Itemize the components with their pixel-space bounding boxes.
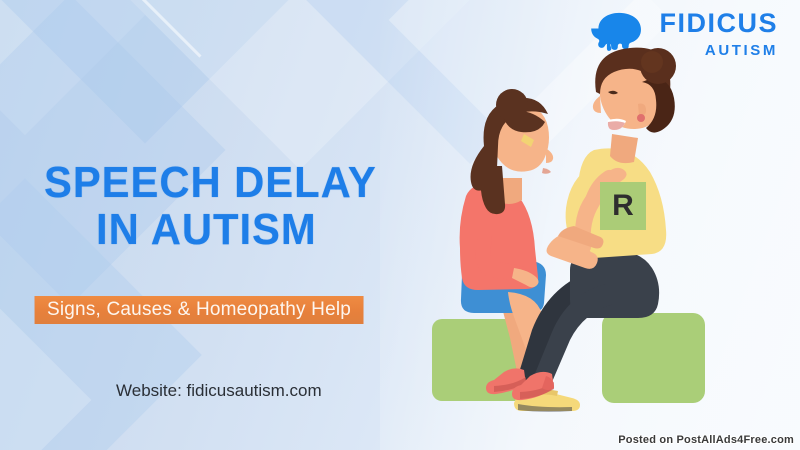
poster-canvas: FIDICUS AUTISM SPEECH DELAY IN AUTISM Si… [0, 0, 800, 450]
title-line-2: IN AUTISM [96, 207, 427, 252]
illustration: R [400, 0, 800, 450]
flash-card-letter: R [612, 189, 634, 223]
subtitle-banner: Signs, Causes & Homeopathy Help [35, 296, 363, 324]
flash-card-r: R [600, 182, 646, 230]
page-title: SPEECH DELAY IN AUTISM [44, 160, 444, 253]
watermark-text: Posted on PostAllAds4Free.com [618, 434, 794, 446]
subtitle-text: Signs, Causes & Homeopathy Help [47, 299, 351, 321]
title-line-1: SPEECH DELAY [44, 160, 424, 205]
website-label: Website: fidicusautism.com [116, 381, 322, 401]
